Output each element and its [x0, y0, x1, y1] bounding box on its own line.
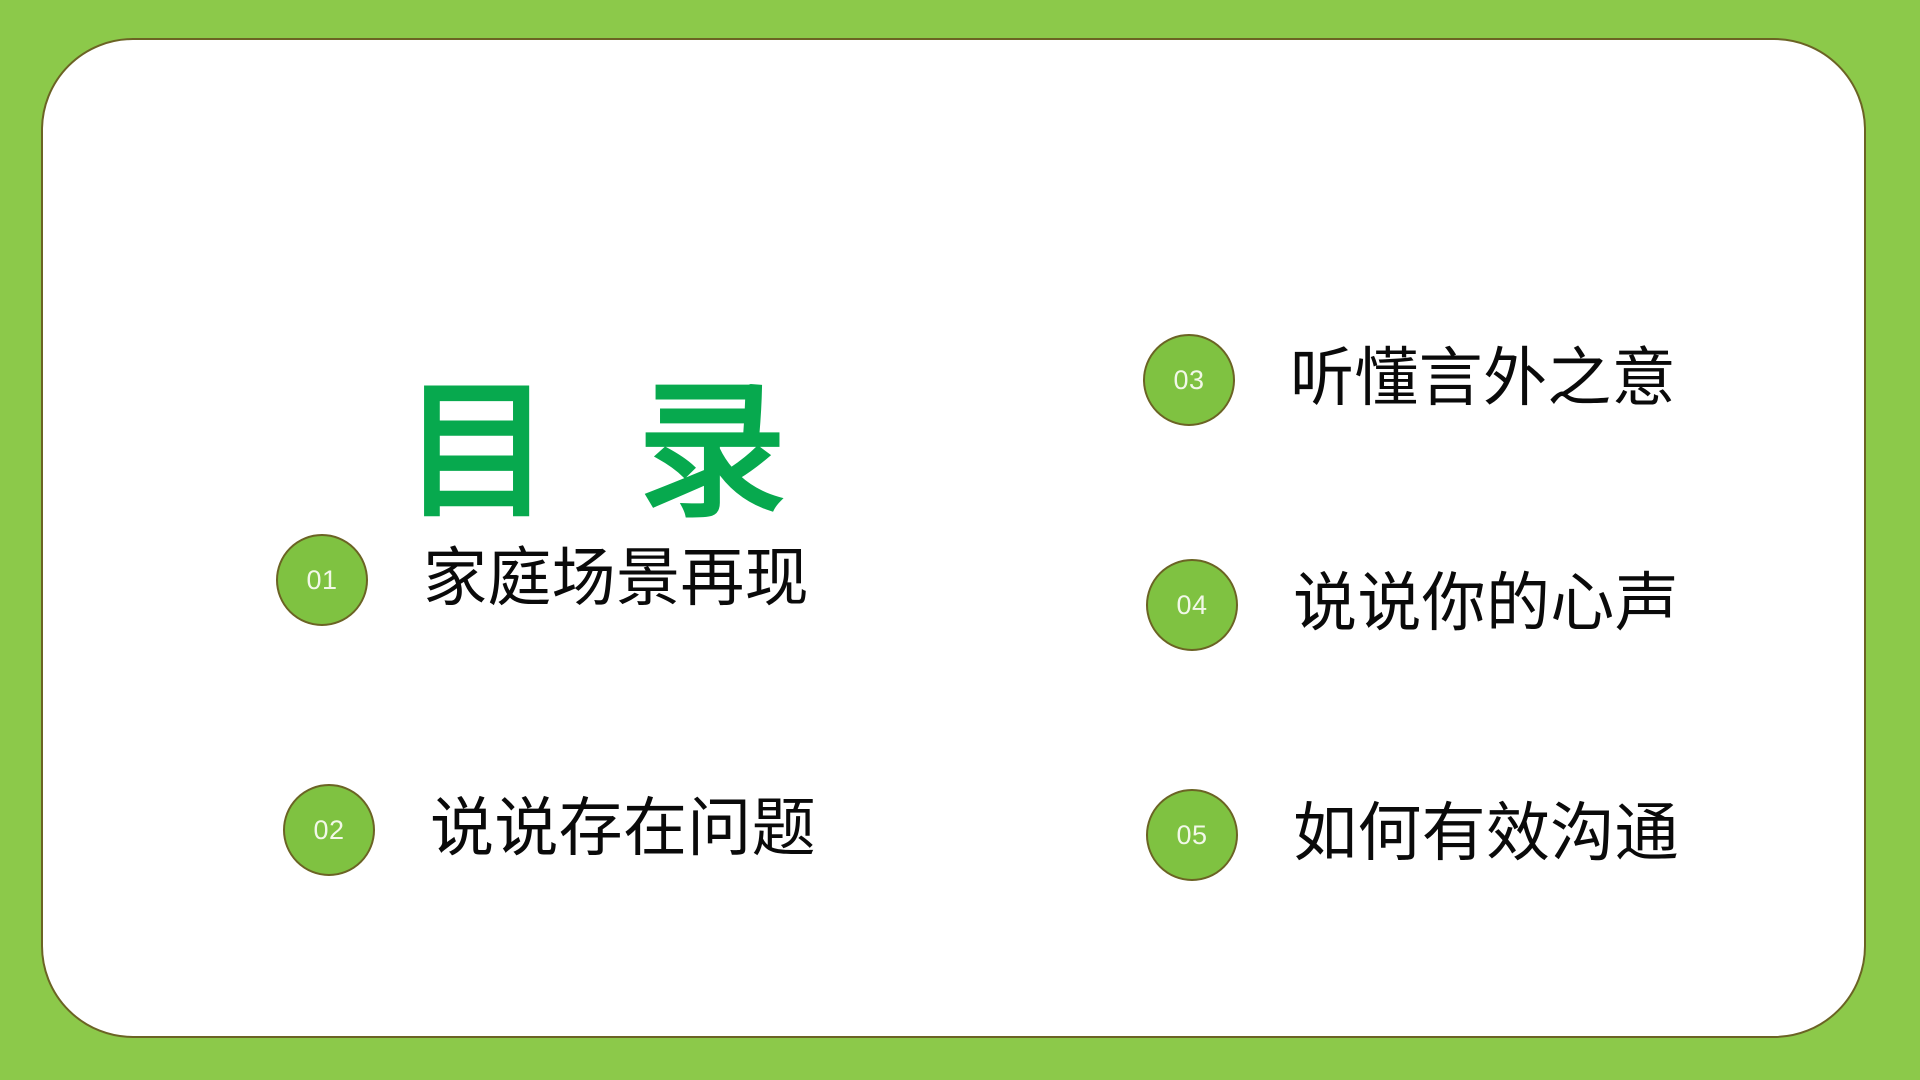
presentation-slide: 目 录 01 家庭场景再现 02 说说存在问题 03 听懂言外之意 04 说说你…	[0, 0, 1920, 1080]
toc-label-04: 说说你的心声	[1293, 571, 1679, 638]
toc-number-badge-05: 05	[1146, 789, 1238, 881]
toc-number-badge-02: 02	[283, 784, 375, 876]
toc-item-02[interactable]: 02 说说存在问题	[283, 784, 816, 876]
page-title: 目 录	[403, 367, 833, 537]
toc-number-badge-04: 04	[1146, 559, 1238, 651]
toc-item-01[interactable]: 01 家庭场景再现	[276, 534, 809, 626]
toc-item-03[interactable]: 03 听懂言外之意	[1143, 334, 1676, 426]
toc-label-02: 说说存在问题	[430, 796, 816, 863]
toc-item-04[interactable]: 04 说说你的心声	[1146, 559, 1679, 651]
toc-number-badge-01: 01	[276, 534, 368, 626]
toc-label-05: 如何有效沟通	[1293, 801, 1679, 868]
toc-number-badge-03: 03	[1143, 334, 1235, 426]
toc-item-05[interactable]: 05 如何有效沟通	[1146, 789, 1679, 881]
toc-label-01: 家庭场景再现	[423, 546, 809, 613]
toc-label-03: 听懂言外之意	[1290, 346, 1676, 413]
content-card: 目 录 01 家庭场景再现 02 说说存在问题 03 听懂言外之意 04 说说你…	[41, 38, 1866, 1038]
